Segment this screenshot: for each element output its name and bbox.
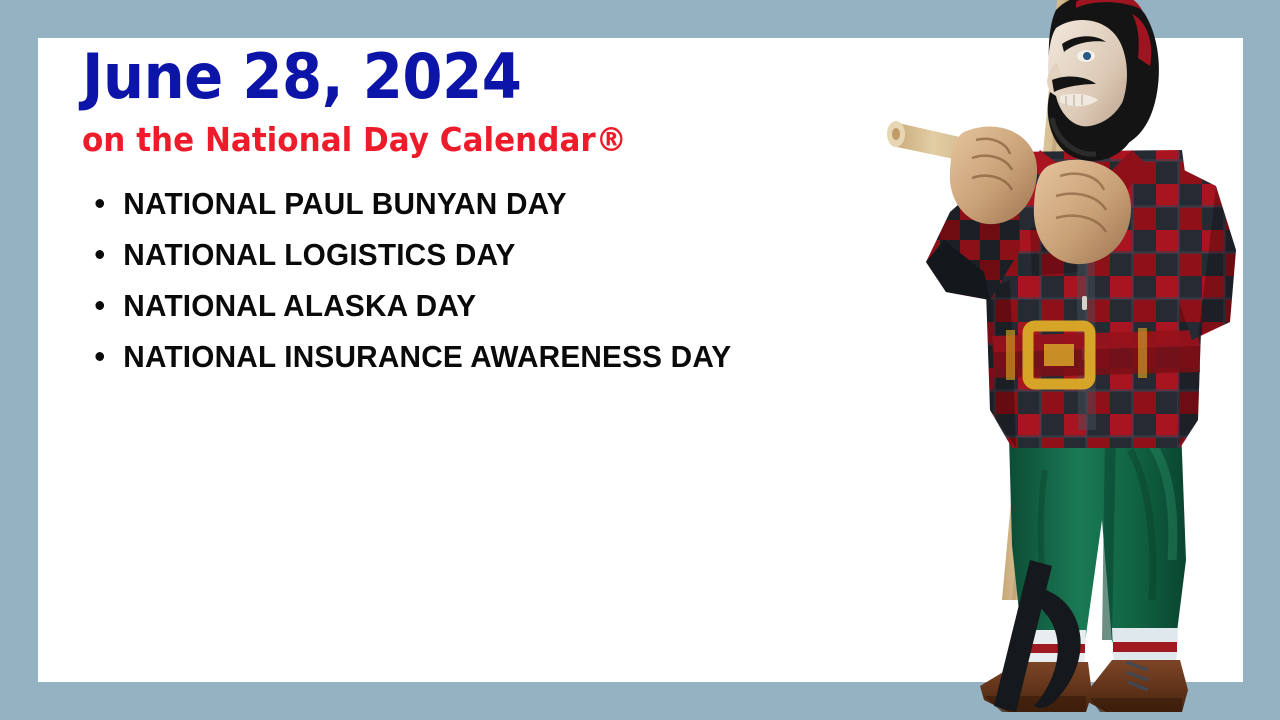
head [1047, 0, 1159, 161]
bullet-icon [95, 352, 104, 361]
page-subtitle: on the National Day Calendar® [82, 120, 928, 160]
list-item: NATIONAL ALASKA DAY [82, 280, 946, 331]
bullet-icon [95, 301, 104, 310]
list-item: NATIONAL INSURANCE AWARENESS DAY [82, 331, 946, 382]
slide-canvas: June 28, 2024 on the National Day Calend… [0, 0, 1280, 720]
list-item-label: NATIONAL INSURANCE AWARENESS DAY [123, 339, 731, 374]
national-day-list: NATIONAL PAUL BUNYAN DAY NATIONAL LOGIST… [82, 178, 982, 382]
bullet-icon [95, 250, 104, 259]
paul-bunyan-statue-image [880, 0, 1280, 720]
list-item: NATIONAL LOGISTICS DAY [82, 229, 946, 280]
list-item-label: NATIONAL ALASKA DAY [123, 288, 476, 323]
page-title: June 28, 2024 [82, 42, 919, 112]
text-content-block: June 28, 2024 on the National Day Calend… [82, 42, 982, 382]
bullet-icon [95, 199, 104, 208]
list-item-label: NATIONAL PAUL BUNYAN DAY [123, 186, 566, 221]
list-item-label: NATIONAL LOGISTICS DAY [123, 237, 515, 272]
list-item: NATIONAL PAUL BUNYAN DAY [82, 178, 946, 229]
